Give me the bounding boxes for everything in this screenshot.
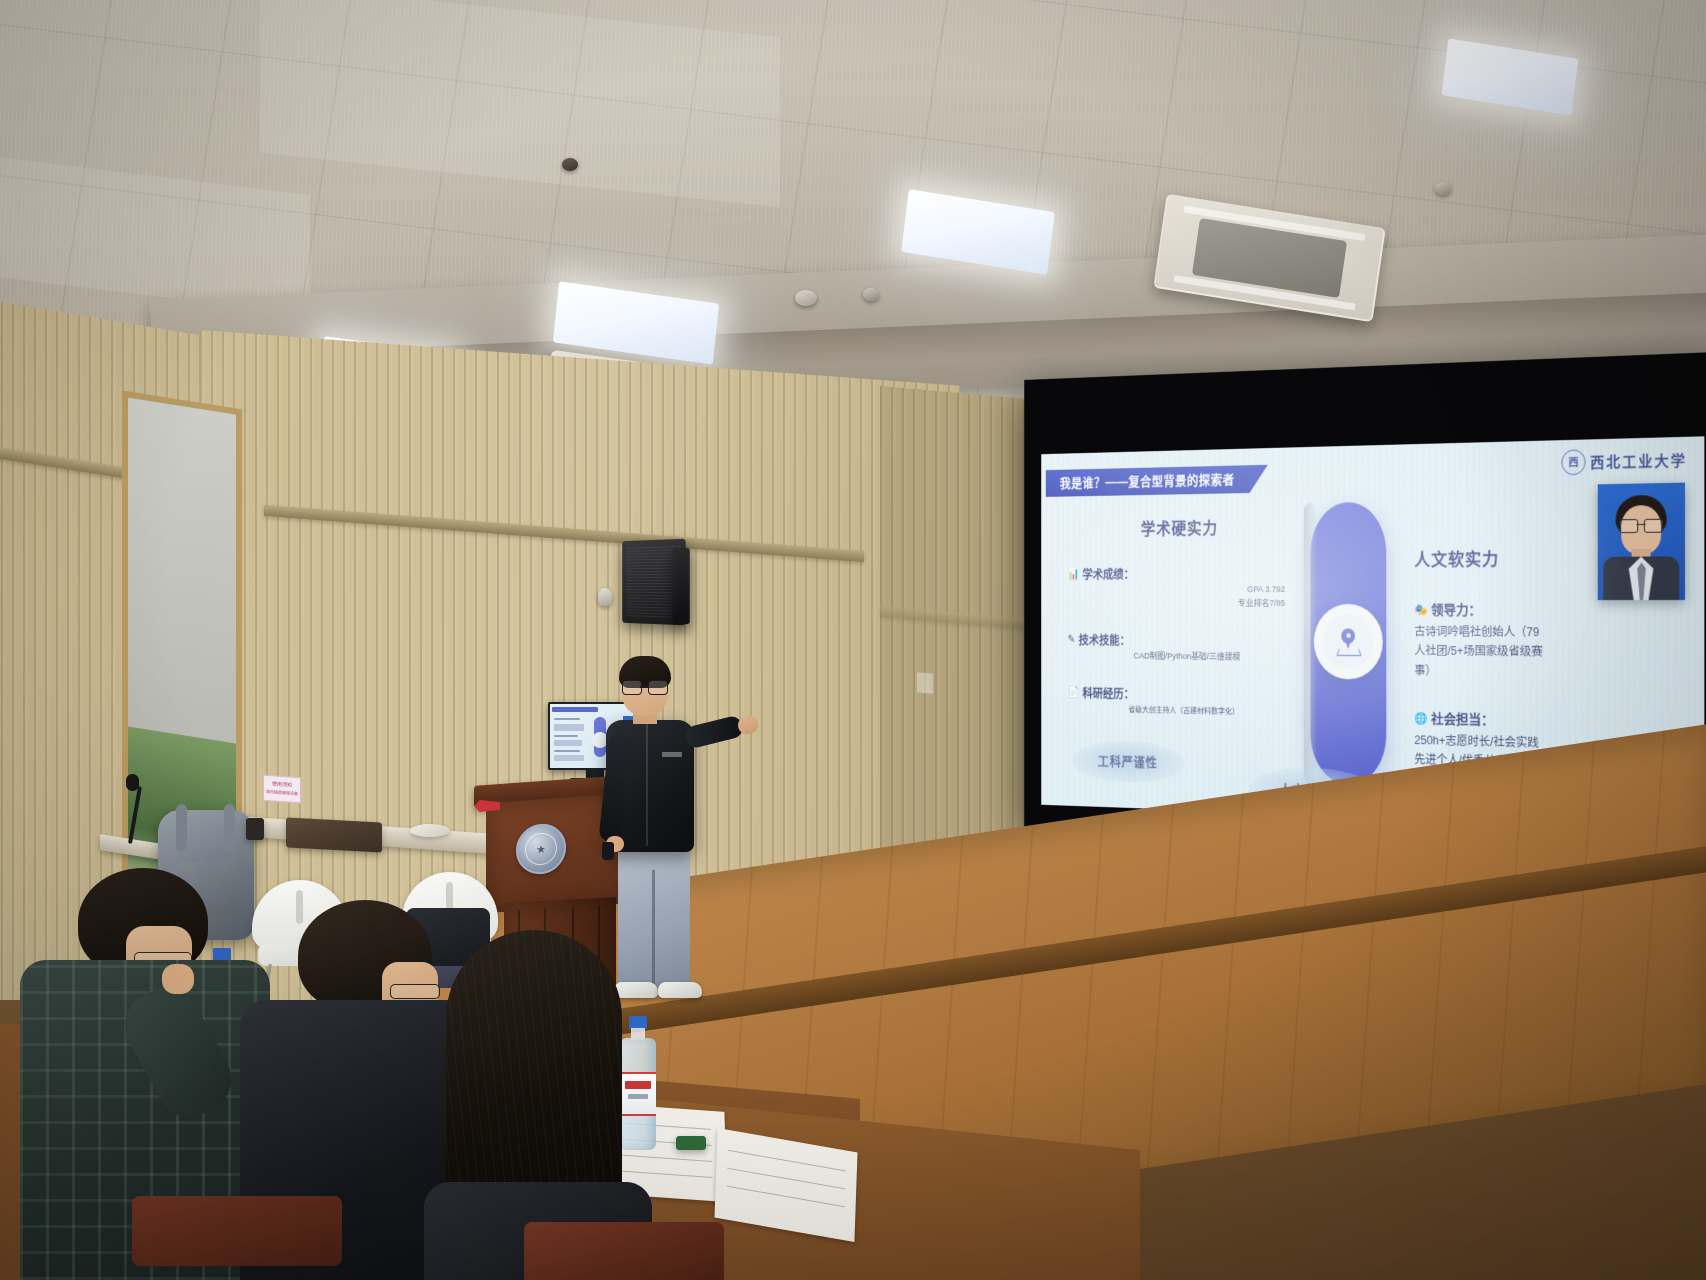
chair-back (518, 1222, 738, 1280)
wall-outlet (916, 671, 934, 695)
left-item-0-title: 学术成绩： (1082, 564, 1134, 581)
stamp-block (676, 1136, 706, 1150)
pencil-icon: ✎ (1068, 634, 1076, 645)
university-crest-icon: 西 (1561, 449, 1585, 475)
chair-back (126, 1196, 356, 1280)
right-item-0-line-1: 人社团/5+场国家级省级赛 (1414, 641, 1605, 662)
roller-shade[interactable] (128, 397, 236, 752)
right-item-0-body: 古诗词吟唱社创始人（79 人社团/5+场国家级省级赛 事） (1414, 622, 1605, 682)
left-column-heading: 学术硬实力 (1068, 514, 1296, 541)
presenter-id-photo (1598, 483, 1685, 600)
document-icon: 📄 (1068, 686, 1080, 697)
saucer (410, 824, 450, 837)
conference-room-photo: 使用须知 请勿随意触碰设备 我是谁？——复合型背景的探索者 西 西北工业大学 学… (0, 0, 1706, 1280)
globe-icon: 🌐 (1414, 712, 1427, 724)
right-item-0: 🎭 领导力： 古诗词吟唱社创始人（79 人社团/5+场国家级省级赛 事） (1414, 600, 1605, 682)
right-item-0-line-2: 事） (1414, 661, 1605, 683)
left-item-1-body: CAD制图/Python基础/三维建模 (1068, 650, 1296, 666)
smoke-detector (1435, 182, 1451, 195)
right-item-1-head: 🌐 社会担当： (1414, 708, 1605, 731)
eyeglasses-icon (622, 680, 668, 693)
location-pin-icon (1340, 628, 1357, 654)
left-item-2: 📄 科研经历： 省级大创主持人（古建材料数字化） (1068, 683, 1296, 719)
slide-title-ribbon: 我是谁？——复合型背景的探索者 (1046, 465, 1268, 497)
wall-speaker-side (672, 548, 689, 625)
microphone-head (126, 774, 139, 791)
left-item-1: ✎ 技术技能： CAD制图/Python基础/三维建模 (1068, 630, 1296, 665)
masks-icon: 🎭 (1414, 604, 1427, 615)
wall-notice: 使用须知 请勿随意触碰设备 (263, 775, 301, 804)
left-item-1-title: 技术技能： (1079, 630, 1130, 647)
tag-0: 工科严谨性 (1072, 739, 1184, 784)
right-column-heading: 人文软实力 (1414, 545, 1605, 572)
right-item-1-title: 社会担当： (1431, 709, 1494, 729)
right-item-0-head: 🎭 领导力： (1414, 600, 1605, 620)
small-device (246, 818, 264, 840)
presentation-clicker (602, 842, 614, 860)
equipment-case (286, 817, 382, 852)
university-logo: 西 西北工业大学 (1561, 447, 1687, 476)
left-item-0: 📊 学术成绩： GPA 3.792 专业排名7/85 (1068, 563, 1296, 611)
slide-left-column: 学术硬实力 📊 学术成绩： GPA 3.792 专业排名7/85 (1068, 514, 1296, 719)
university-logo-text: 西北工业大学 (1590, 449, 1687, 472)
left-item-0-head: 📊 学术成绩： (1068, 563, 1296, 582)
right-item-0-title: 领导力： (1431, 600, 1481, 619)
ceiling-speaker (795, 290, 817, 306)
left-item-0-line-1: 专业排名7/85 (1068, 597, 1285, 611)
right-item-0-line-0: 古诗词吟唱社创始人（79 (1414, 622, 1605, 642)
left-item-2-title: 科研经历： (1082, 683, 1134, 701)
smoke-detector (863, 288, 879, 301)
chart-bar-icon: 📊 (1068, 568, 1080, 579)
left-item-2-head: 📄 科研经历： (1068, 683, 1296, 704)
ceiling-camera (598, 588, 612, 606)
smoke-detector (562, 158, 578, 171)
left-item-0-body: GPA 3.792 专业排名7/85 (1068, 584, 1296, 611)
notice-line-2: 请勿随意触碰设备 (266, 789, 298, 797)
left-item-1-head: ✎ 技术技能： (1068, 630, 1296, 649)
left-item-0-line-0: GPA 3.792 (1068, 584, 1285, 598)
